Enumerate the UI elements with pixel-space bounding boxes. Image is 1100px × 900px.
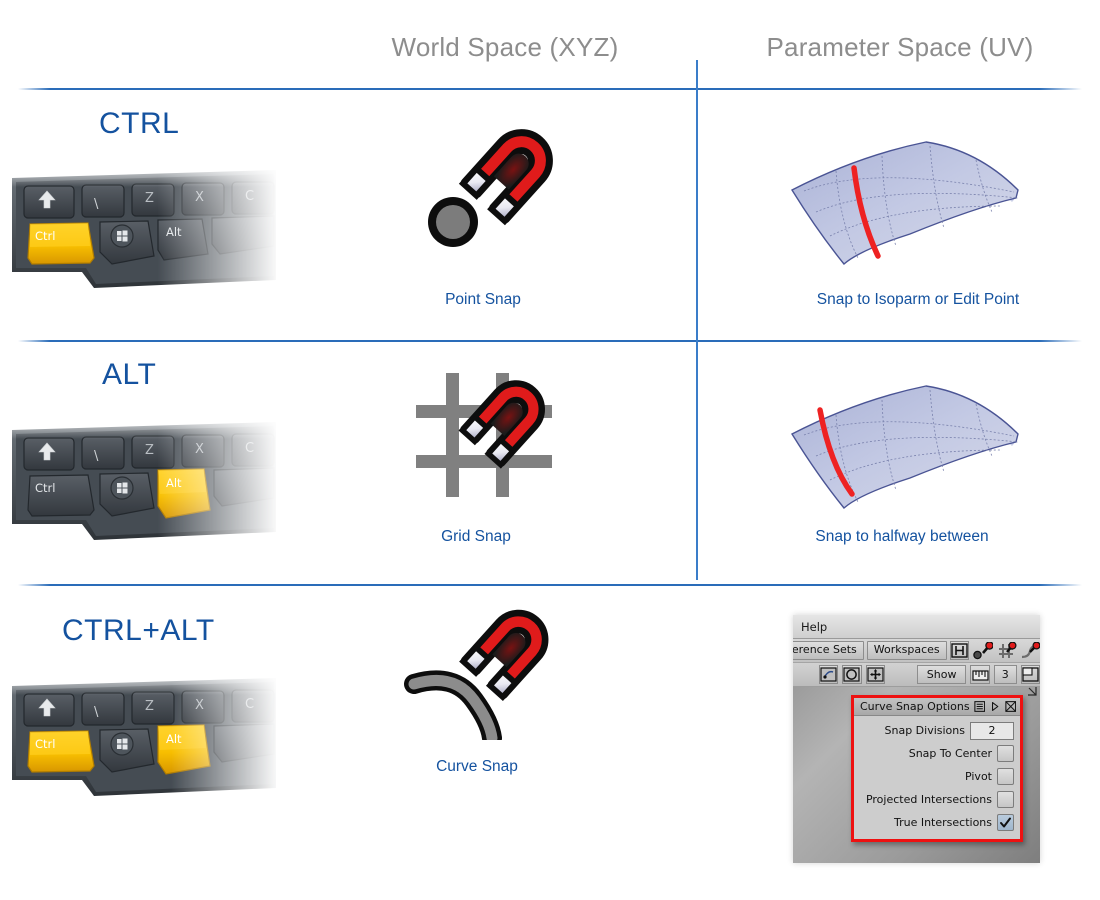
toolbar-tab-workspaces[interactable]: Workspaces (867, 641, 947, 659)
maya-toolbar-row-1: ference Sets Workspaces (793, 639, 1040, 663)
option-row-pivot: Pivot (860, 767, 1014, 786)
move-manip-icon[interactable] (866, 665, 885, 684)
curve-snap-magnet-icon (402, 608, 570, 740)
menu-item-help[interactable]: Help (801, 620, 827, 634)
nurbs-surface-isoparm-snap (778, 128, 1036, 278)
panel-layout-icon[interactable] (1021, 665, 1040, 684)
toolbar-tab-preference-sets[interactable]: ference Sets (793, 641, 864, 659)
ruler-icon[interactable] (970, 665, 989, 684)
layer-number[interactable]: 3 (994, 665, 1017, 684)
caption-grid-snap: Grid Snap (376, 528, 576, 546)
dialog-title: Curve Snap Options (860, 700, 970, 713)
h-icon[interactable] (950, 641, 969, 660)
caption-curve-snap: Curve Snap (377, 758, 577, 776)
poster-canvas: World Space (XYZ) Parameter Space (UV) C… (0, 0, 1100, 900)
dialog-body: Snap Divisions 2 Snap To Center Pivot Pr… (854, 716, 1020, 839)
resize-grip-icon[interactable] (1026, 685, 1038, 697)
point-snap-icon[interactable] (972, 641, 993, 660)
caption-snap-isoparm: Snap to Isoparm or Edit Point (800, 291, 1036, 309)
caption-point-snap: Point Snap (383, 291, 583, 309)
label-projected-intersections: Projected Intersections (866, 793, 992, 806)
play-icon[interactable] (989, 700, 1000, 713)
row-key-label-ctrl: CTRL (99, 107, 179, 141)
nurbs-surface-halfway-snap (778, 372, 1036, 522)
column-header-parameter-space: Parameter Space (UV) (730, 32, 1070, 63)
maya-toolbar-row-2: Show 3 (793, 663, 1040, 687)
option-row-snap-divisions: Snap Divisions 2 (860, 721, 1014, 740)
curve-snap-icon[interactable] (1020, 641, 1040, 660)
divider-vertical-columns (696, 60, 698, 580)
row-key-label-ctrl-alt: CTRL+ALT (62, 614, 215, 648)
column-header-world-space: World Space (XYZ) (340, 32, 670, 63)
label-true-intersections: True Intersections (894, 816, 992, 829)
label-pivot: Pivot (965, 770, 992, 783)
label-snap-to-center: Snap To Center (909, 747, 992, 760)
point-snap-magnet-icon (408, 128, 568, 258)
close-icon[interactable] (1005, 700, 1016, 713)
row-key-label-alt: ALT (102, 358, 156, 392)
curve-snap-options-dialog: Curve Snap Options Snap Divisions 2 (851, 695, 1023, 842)
snap-divisions-input[interactable]: 2 (970, 722, 1014, 740)
snap-to-pixel-icon[interactable] (842, 665, 861, 684)
option-row-snap-to-center: Snap To Center (860, 744, 1014, 763)
divider-row2-row3 (18, 584, 1082, 586)
maya-menubar: Help (793, 615, 1040, 639)
snap-to-center-checkbox[interactable] (997, 745, 1014, 762)
caption-snap-halfway: Snap to halfway between (786, 528, 1018, 546)
pivot-checkbox[interactable] (997, 768, 1014, 785)
dialog-titlebar: Curve Snap Options (854, 698, 1020, 716)
keyboard-image-ctrl-alt: \ Z X C Ctrl Alt (8, 668, 280, 808)
maya-screenshot-panel: Help ference Sets Workspaces (793, 615, 1040, 863)
grid-snap-icon[interactable] (996, 641, 1017, 660)
menu-icon[interactable] (974, 700, 985, 713)
option-row-true-intersections: True Intersections (860, 813, 1014, 832)
divider-top (18, 88, 1082, 90)
grid-snap-magnet-icon (408, 365, 568, 505)
label-snap-divisions: Snap Divisions (885, 724, 966, 737)
keyboard-image-ctrl: \ Z X C Ctrl Alt (8, 160, 280, 300)
divider-row1-row2 (18, 340, 1082, 342)
snap-to-view-plane-icon[interactable] (819, 665, 838, 684)
projected-intersections-checkbox[interactable] (997, 791, 1014, 808)
option-row-projected-intersections: Projected Intersections (860, 790, 1014, 809)
show-button[interactable]: Show (917, 665, 967, 684)
true-intersections-checkbox[interactable] (997, 814, 1014, 831)
keyboard-image-alt: \ Z X C Ctrl Alt (8, 412, 280, 552)
